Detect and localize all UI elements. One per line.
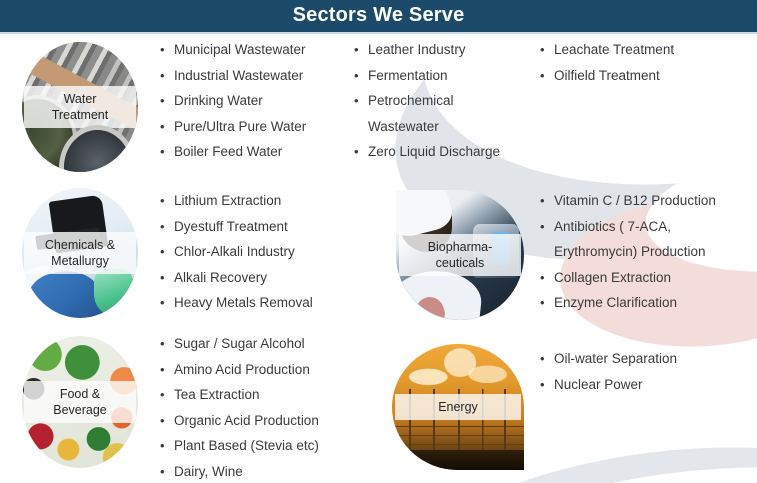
list-item: Oilfield Treatment [538,63,674,89]
bullet-column-energy-3: Oil-water Separation Nuclear Power [538,346,677,397]
sector-caption-water-treatment: Water Treatment [24,86,135,128]
list-item: Fermentation [352,63,500,89]
green-flask-shape [94,269,133,316]
list-item: Dyestuff Treatment [158,214,313,240]
sector-caption-food-beverage: Food & Beverage [24,381,135,423]
list-item: Zero Liquid Discharge [352,139,500,165]
sector-thumbnail-water-treatment[interactable]: Water Treatment [22,42,138,172]
ground-silhouette-shape [392,450,524,470]
sector-caption-biopharmaceuticals: Biopharma- ceuticals [399,234,522,276]
bullet-list: Vitamin C / B12 Production Antibiotics (… [538,188,716,316]
list-item: Petrochemical [352,88,500,114]
sector-thumbnail-chemicals-metallurgy[interactable]: Chemicals & Metallurgy [22,188,138,318]
list-item: Municipal Wastewater [158,37,306,63]
list-item-continuation: Erythromycin) Production [538,239,716,265]
list-item: Pure/Ultra Pure Water [158,114,306,140]
title-bar: Sectors We Serve [0,0,757,32]
list-item: Nuclear Power [538,372,677,398]
bullet-list: Lithium Extraction Dyestuff Treatment Ch… [158,188,313,316]
list-item: Sugar / Sugar Alcohol [158,331,319,357]
list-item: Heavy Metals Removal [158,290,313,316]
list-item: Industrial Wastewater [158,63,306,89]
list-item: Plant Based (Stevia etc) [158,433,319,459]
list-item: Leather Industry [352,37,500,63]
sector-thumbnail-food-beverage[interactable]: Food & Beverage [22,336,138,468]
sector-thumbnail-biopharmaceuticals[interactable]: Biopharma- ceuticals [396,190,524,320]
bullet-list: Leachate Treatment Oilfield Treatment [538,37,674,88]
title-underline [0,32,757,34]
list-item-continuation: Wastewater [352,114,500,140]
bullet-list: Oil-water Separation Nuclear Power [538,346,677,397]
bullet-column-water-3: Leachate Treatment Oilfield Treatment [538,37,674,88]
sector-caption-chemicals-metallurgy: Chemicals & Metallurgy [24,232,135,274]
list-item: Drinking Water [158,88,306,114]
list-item: Vitamin C / B12 Production [538,188,716,214]
bullet-column-biopharma-3: Vitamin C / B12 Production Antibiotics (… [538,188,716,316]
list-item: Lithium Extraction [158,188,313,214]
bullet-list: Municipal Wastewater Industrial Wastewat… [158,37,306,165]
list-item: Amino Acid Production [158,357,319,383]
list-item: Collagen Extraction [538,265,716,291]
page-title: Sectors We Serve [0,0,757,32]
list-item: Leachate Treatment [538,37,674,63]
slide-canvas: Sectors We Serve Water Treatment Chemica… [0,0,757,483]
list-item: Boiler Feed Water [158,139,306,165]
list-item: Organic Acid Production [158,408,319,434]
bullet-list: Sugar / Sugar Alcohol Amino Acid Product… [158,331,319,483]
list-item: Alkali Recovery [158,265,313,291]
list-item: Tea Extraction [158,382,319,408]
list-item: Enzyme Clarification [538,290,716,316]
bullet-column-water-2: Leather Industry Fermentation Petrochemi… [352,37,500,165]
bullet-column-food-1: Sugar / Sugar Alcohol Amino Acid Product… [158,331,319,483]
list-item: Antibiotics ( 7-ACA, [538,214,716,240]
bullet-list: Leather Industry Fermentation Petrochemi… [352,37,500,165]
sector-thumbnail-energy[interactable]: Energy [392,344,524,470]
bullet-column-water-1: Municipal Wastewater Industrial Wastewat… [158,37,306,165]
list-item: Dairy, Wine [158,459,319,483]
list-item: Chlor-Alkali Industry [158,239,313,265]
power-lines-shape [392,426,524,428]
bullet-column-chemicals-1: Lithium Extraction Dyestuff Treatment Ch… [158,188,313,316]
sector-caption-energy: Energy [395,394,522,420]
list-item: Oil-water Separation [538,346,677,372]
